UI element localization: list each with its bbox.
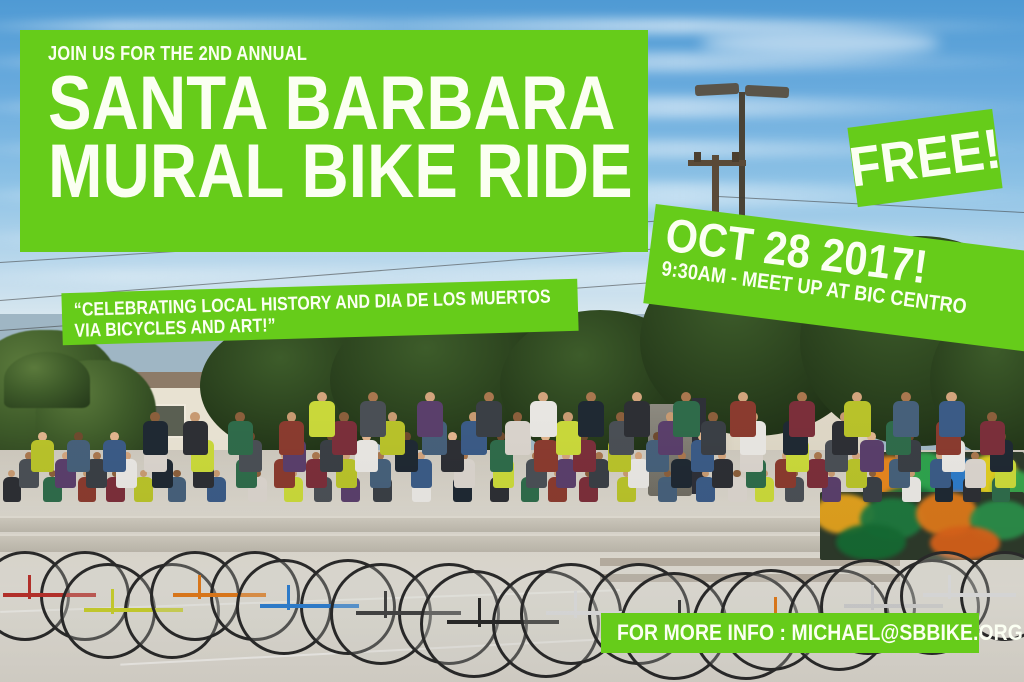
utility-insulator — [694, 152, 701, 162]
crowd-person — [701, 412, 727, 472]
street-lamp — [745, 85, 790, 98]
crowd-person — [673, 392, 701, 454]
bicycle-seat-post — [948, 575, 951, 599]
street-lamp — [695, 83, 740, 96]
crowd-person — [844, 392, 872, 454]
person-torso — [844, 401, 870, 437]
person-torso — [578, 401, 604, 437]
crowd-person — [624, 392, 652, 454]
bicycle-seat-post — [478, 598, 481, 627]
crowd-person — [31, 432, 55, 487]
crowd-person — [530, 392, 558, 454]
bicycle-frame — [923, 593, 1016, 597]
bicycle-seat-post — [198, 575, 201, 599]
utility-insulator — [732, 152, 739, 162]
person-torso — [360, 401, 386, 437]
person-torso — [143, 421, 168, 456]
person-torso — [183, 421, 208, 456]
crowd-person — [143, 412, 169, 472]
person-torso — [309, 401, 335, 437]
person-torso — [476, 401, 502, 437]
crowd-person — [103, 432, 127, 487]
bicycle-seat-post — [287, 585, 290, 611]
bicycle-seat-post — [384, 591, 387, 618]
bicycle-seat-post — [871, 585, 874, 611]
crowd-person — [309, 392, 337, 454]
crowd-person — [980, 412, 1006, 472]
bicycle-seat-post — [28, 575, 31, 599]
crowd-person — [476, 392, 504, 454]
person-torso — [701, 421, 726, 456]
person-torso — [939, 401, 965, 437]
crowd-person — [360, 392, 388, 454]
cloud — [700, 30, 940, 56]
bicycle-seat-post — [111, 589, 114, 615]
palm-tree — [4, 352, 90, 408]
person-torso — [505, 421, 530, 456]
crowd-person — [279, 412, 305, 472]
person-torso — [279, 421, 304, 456]
page-title-line-2: MURAL BIKE RIDE — [48, 137, 564, 207]
crowd-person — [183, 412, 209, 472]
mural-paint — [836, 524, 906, 560]
crowd-person — [417, 392, 445, 454]
person-torso — [893, 401, 919, 437]
person-torso — [730, 401, 756, 437]
person-torso — [624, 401, 650, 437]
crowd-person — [578, 392, 606, 454]
crowd-person — [505, 412, 531, 472]
crowd-person — [893, 392, 921, 454]
person-torso — [673, 401, 699, 437]
person-torso — [103, 440, 126, 472]
headline-panel: JOIN US FOR THE 2ND ANNUAL SANTA BARBARA… — [20, 30, 648, 252]
person-torso — [980, 421, 1005, 456]
person-torso — [530, 401, 556, 437]
person-torso — [789, 401, 815, 437]
person-torso — [31, 440, 54, 472]
event-poster: JOIN US FOR THE 2ND ANNUAL SANTA BARBARA… — [0, 0, 1024, 682]
crowd-person — [789, 392, 817, 454]
crowd-person — [939, 392, 967, 454]
person-torso — [417, 401, 443, 437]
crowd-person — [228, 412, 254, 472]
bicycle-seat-post — [574, 591, 577, 618]
contact-banner: FOR MORE INFO : MICHAEL@SBBIKE.ORG — [601, 613, 979, 653]
free-badge-label: FREE! — [846, 120, 1004, 195]
person-torso — [228, 421, 253, 456]
person-torso — [67, 440, 90, 472]
crowd-person — [67, 432, 91, 487]
crowd-person — [730, 392, 758, 454]
contact-email-text: FOR MORE INFO : MICHAEL@SBBIKE.ORG — [617, 622, 1023, 644]
